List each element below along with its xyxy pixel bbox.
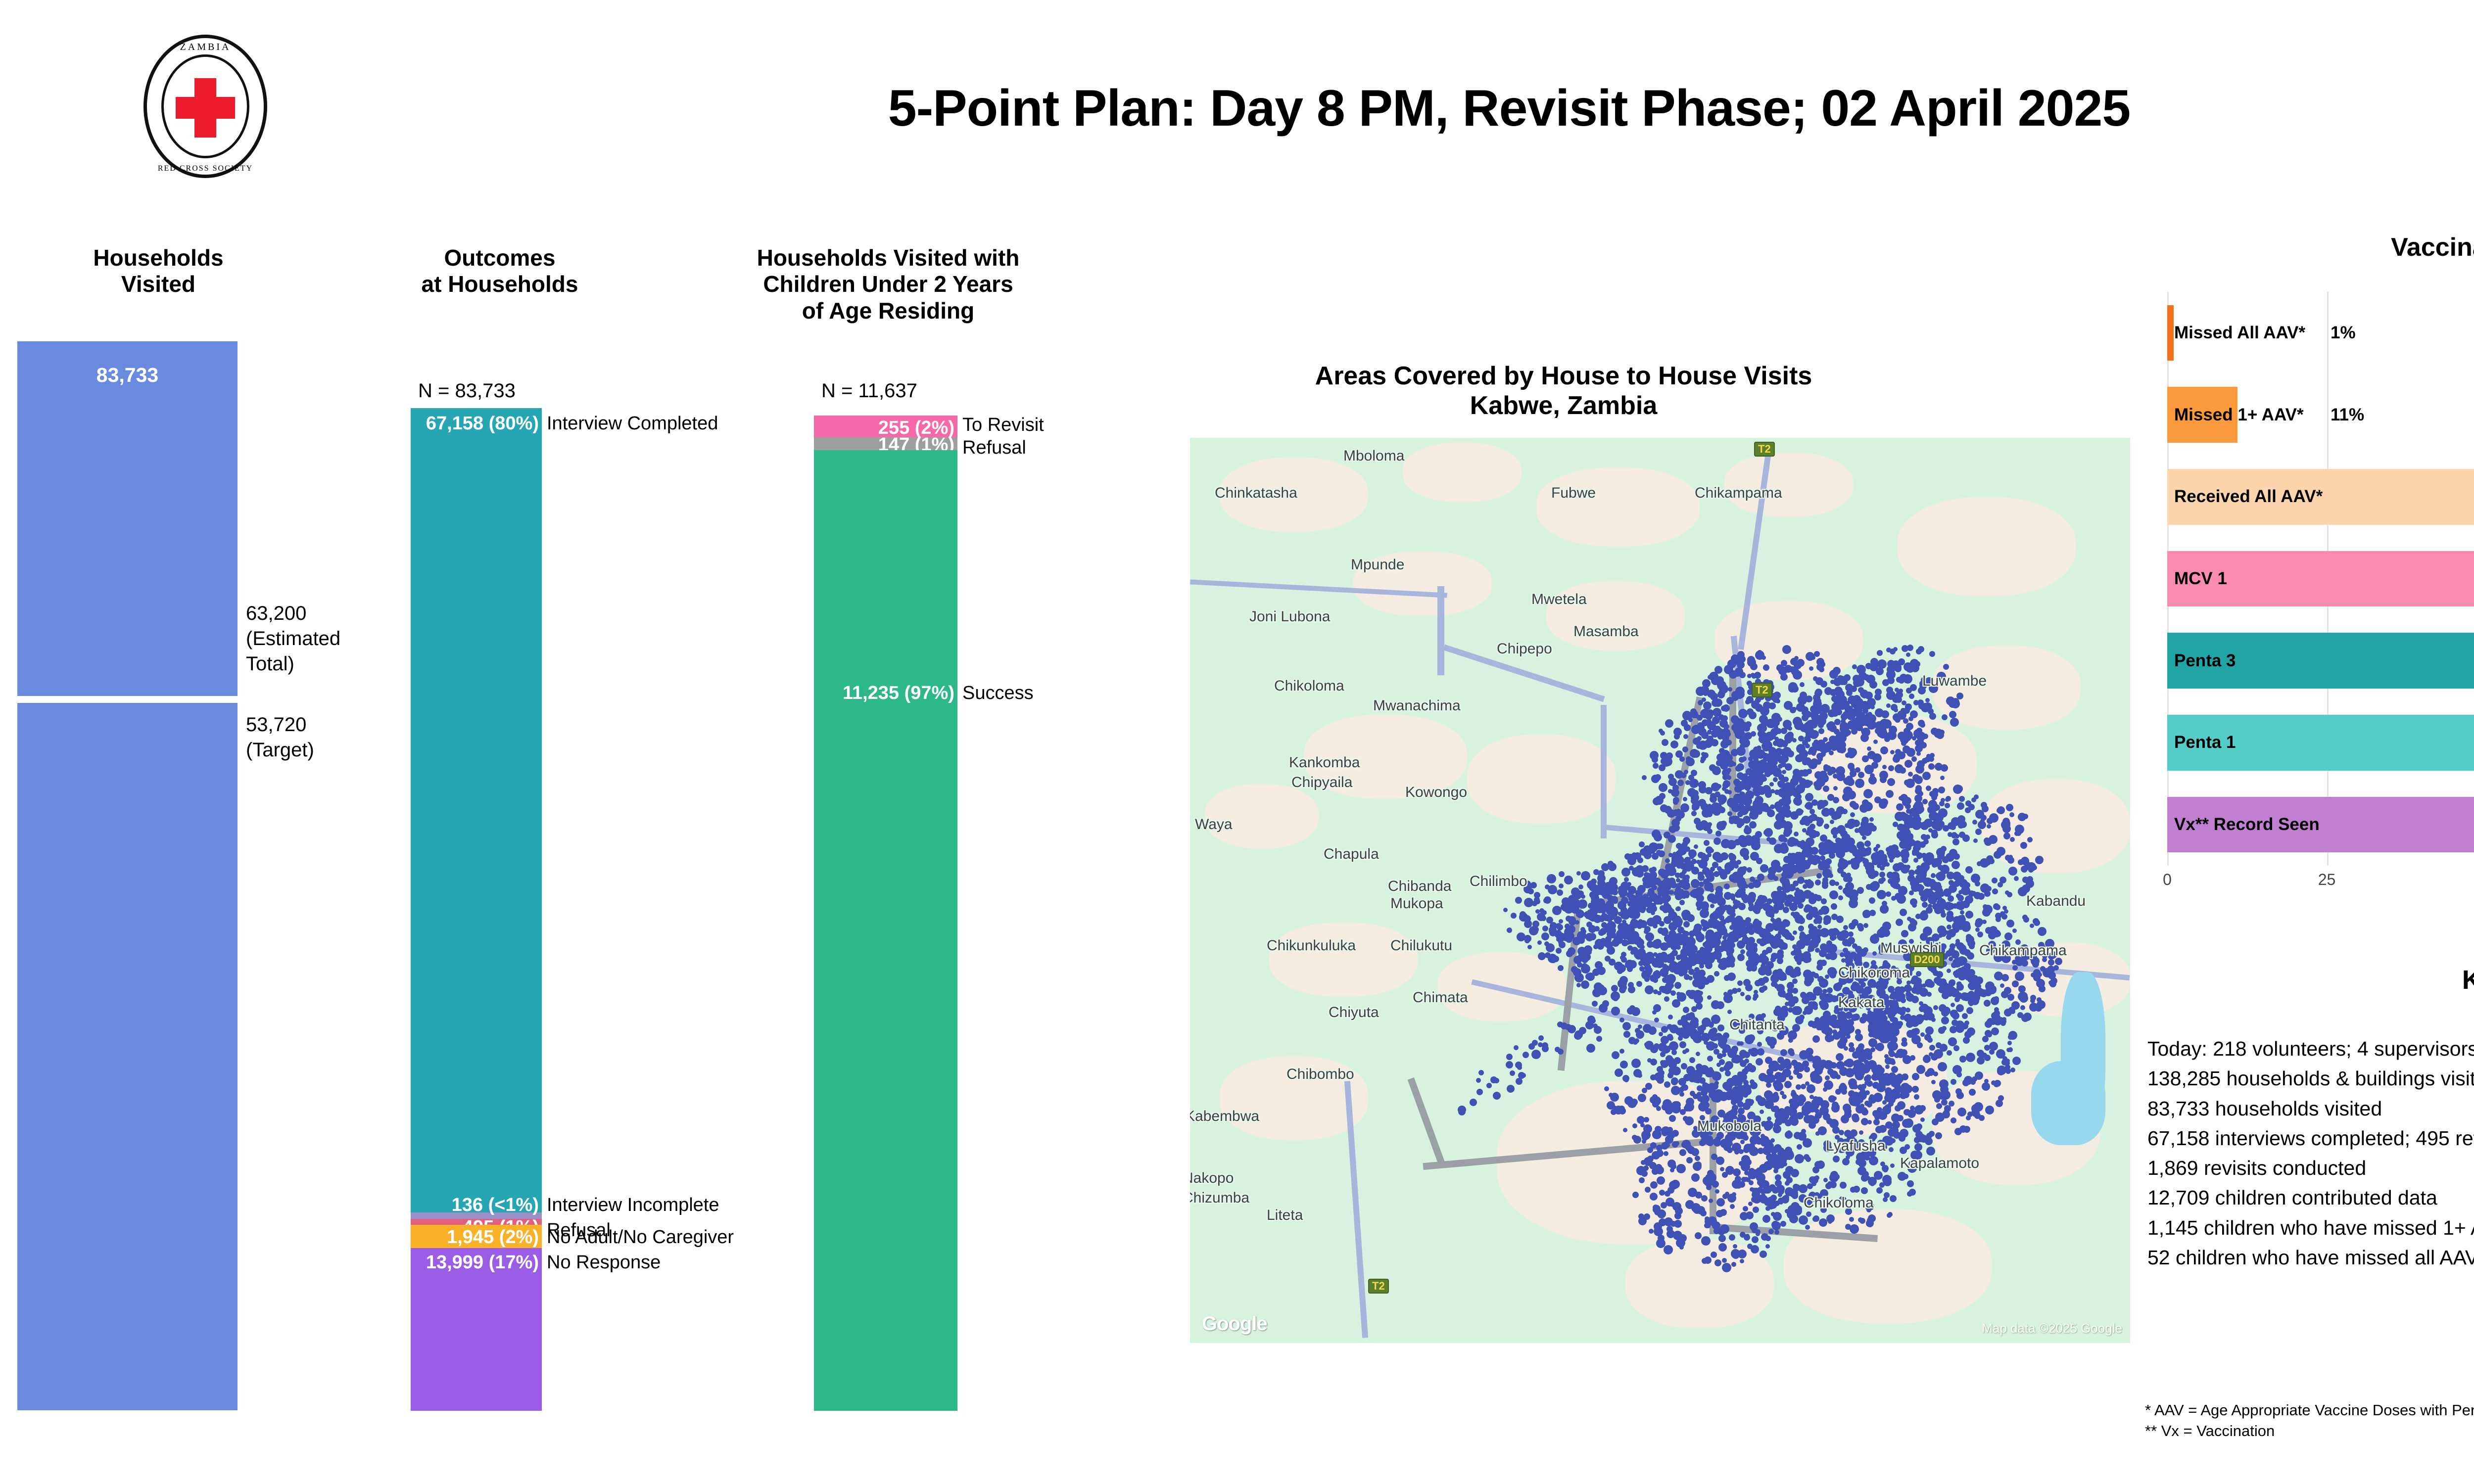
key-number-item: Today: 218 volunteers; 4 supervisors bbox=[2147, 1034, 2474, 1064]
x-axis-tick: 25 bbox=[2318, 871, 2336, 889]
map-place-label: Liteta bbox=[1267, 1207, 1303, 1224]
map-place-label: Nakopo bbox=[1190, 1170, 1234, 1187]
map-place-label: Mboloma bbox=[1343, 448, 1404, 464]
logo-arc-top-text: ZAMBIA bbox=[143, 42, 267, 53]
google-watermark: Google bbox=[1202, 1313, 1267, 1335]
bar-segment: 67,158 (80%)Interview Completed bbox=[411, 408, 542, 1212]
map-place-label: Mukopa bbox=[1390, 895, 1443, 912]
road-shield: T2 bbox=[1754, 442, 1775, 457]
map-place-label: Chilukutu bbox=[1390, 937, 1452, 954]
page-header: ZAMBIA RED CROSS SOCIETY 5-Point Plan: D… bbox=[0, 0, 2474, 213]
bar-segment-label: To Revisit bbox=[962, 415, 1044, 436]
bar-segment-value: 11,235 (97%) bbox=[843, 683, 954, 704]
bar-segment-value: 136 (<1%) bbox=[452, 1195, 539, 1216]
outcomes-title: Outcomesat Households bbox=[356, 245, 643, 298]
map-place-label: Kabembwa bbox=[1190, 1108, 1259, 1125]
coverage-bar-label: Missed 1+ AAV* bbox=[2174, 405, 2304, 425]
children-under2-title: Households Visited withChildren Under 2 … bbox=[725, 245, 1051, 324]
coverage-bar bbox=[2167, 305, 2174, 361]
outcomes-n-label: N = 83,733 bbox=[418, 380, 516, 402]
map-place-label: Kabandu bbox=[2026, 893, 2086, 910]
bar-segment-label: No Adult/No Caregiver bbox=[547, 1227, 734, 1248]
coverage-map[interactable]: MbolomaChinkatashaFubweChikampamaMpundeM… bbox=[1190, 438, 2130, 1343]
map-place-label: Chikoloma bbox=[1804, 1195, 1874, 1211]
map-place-label: Chapula bbox=[1324, 846, 1379, 863]
bar-segment-label: Refusal bbox=[962, 437, 1026, 459]
key-numbers-title: Key Numbers bbox=[2142, 965, 2474, 995]
coverage-bar-value: 1% bbox=[2331, 323, 2356, 343]
coverage-bar-label: Penta 3 bbox=[2174, 651, 2236, 671]
map-place-label: Chizumba bbox=[1190, 1190, 1249, 1206]
map-place-label: Chipepo bbox=[1497, 641, 1552, 657]
map-place-label: Mpunde bbox=[1351, 556, 1404, 573]
map-place-label: Chipyaila bbox=[1291, 774, 1352, 791]
coverage-bar-row: Missed All AAV*1%N =10,753 bbox=[2167, 305, 2474, 361]
bar-segment-label: Interview Incomplete bbox=[547, 1195, 719, 1216]
target-note: 53,720(Target) bbox=[246, 712, 394, 763]
bar-segment: 1,945 (2%)No Adult/No Caregiver bbox=[411, 1225, 542, 1248]
footnote-aav: * AAV = Age Appropriate Vaccine Doses wi… bbox=[2145, 1400, 2474, 1421]
map-place-label: Chikoloma bbox=[1274, 678, 1344, 695]
households-visited-bar-lower bbox=[17, 703, 238, 1410]
coverage-bar-row: Penta 396%N = 9,770 bbox=[2167, 633, 2474, 689]
footnotes: * AAV = Age Appropriate Vaccine Doses wi… bbox=[2145, 1400, 2474, 1441]
chart-x-axis: 0255075100% bbox=[2167, 871, 2474, 900]
coverage-bar-row: Received All AAV*86%N =10,753 bbox=[2167, 469, 2474, 525]
footnote-vx: ** Vx = Vaccination bbox=[2145, 1421, 2474, 1441]
coverage-bar-row: Missed 1+ AAV*11%N =10,753 bbox=[2167, 387, 2474, 443]
map-place-label: Fubwe bbox=[1551, 485, 1596, 502]
map-title: Areas Covered by House to House VisitsKa… bbox=[1133, 361, 1994, 421]
map-place-label: Chitanta bbox=[1729, 1017, 1785, 1033]
coverage-bar-row: Vx** Record Seen95%N =11,741 bbox=[2167, 797, 2474, 853]
bar-segment-label: No Response bbox=[547, 1252, 661, 1273]
map-place-label: Kakata bbox=[1838, 994, 1884, 1011]
bar-segment: 147 (1%)Refusal bbox=[814, 437, 957, 450]
key-number-item: 52 children who have missed all AAV* bbox=[2147, 1243, 2474, 1272]
bar-segment-value: 67,158 (80%) bbox=[426, 413, 539, 434]
map-place-label: Chibombo bbox=[1286, 1066, 1354, 1083]
red-cross-icon-bar bbox=[176, 97, 235, 119]
households-visited-title: HouseholdsVisited bbox=[15, 245, 302, 298]
coverage-bar-label: Received All AAV* bbox=[2174, 487, 2323, 507]
key-number-item: 1,869 revisits conducted bbox=[2147, 1153, 2474, 1183]
key-numbers-list: Today: 218 volunteers; 4 supervisors138,… bbox=[2147, 1034, 2474, 1272]
zambia-red-cross-logo: ZAMBIA RED CROSS SOCIETY bbox=[143, 35, 267, 178]
map-place-label: Luwambe bbox=[1922, 673, 1987, 690]
map-place-label: Kankomba bbox=[1289, 754, 1360, 771]
children-under2-stacked-bar: 255 (2%)To Revisit147 (1%)Refusal11,235 … bbox=[814, 416, 957, 1411]
outcomes-stacked-bar: 67,158 (80%)Interview Completed136 (<1%)… bbox=[411, 408, 542, 1411]
road-shield: T2 bbox=[1752, 683, 1772, 697]
households-visited-value: 83,733 bbox=[17, 364, 238, 387]
map-place-label: Waya bbox=[1195, 816, 1233, 833]
map-place-label: Chikampama bbox=[1979, 942, 2067, 959]
map-place-label: Chibanda bbox=[1388, 878, 1451, 895]
coverage-bar-value: 11% bbox=[2331, 405, 2364, 425]
coverage-bar-label: Missed All AAV* bbox=[2174, 323, 2305, 343]
households-visited-bar-upper bbox=[17, 341, 238, 696]
bar-segment-label: Success bbox=[962, 683, 1034, 704]
page-title: 5-Point Plan: Day 8 PM, Revisit Phase; 0… bbox=[544, 79, 2474, 138]
map-place-label: Chikoroma bbox=[1838, 965, 1910, 981]
map-place-label: Chilimbo bbox=[1470, 873, 1527, 890]
map-place-label: Chikampama bbox=[1695, 485, 1782, 502]
coverage-bar-label: MCV 1 bbox=[2174, 569, 2227, 589]
map-place-label: Kapalamoto bbox=[1900, 1155, 1979, 1172]
map-place-label: Mwanachima bbox=[1373, 697, 1461, 714]
map-place-label: Lyafusha bbox=[1826, 1138, 1886, 1155]
key-number-item: 67,158 interviews completed; 495 refusal… bbox=[2147, 1123, 2474, 1153]
estimated-total-note: 63,200(EstimatedTotal) bbox=[246, 601, 394, 677]
x-axis-tick: 0 bbox=[2163, 871, 2172, 889]
map-place-label: Kowongo bbox=[1405, 784, 1467, 801]
map-place-label: Mwetela bbox=[1531, 591, 1587, 608]
map-attribution: Map data ©2025 Google bbox=[1982, 1321, 2122, 1336]
bar-segment-value: 13,999 (17%) bbox=[426, 1252, 539, 1273]
coverage-bar-label: Vx** Record Seen bbox=[2174, 815, 2320, 835]
coverage-bar-label: Penta 1 bbox=[2174, 733, 2236, 752]
map-place-label: Chimata bbox=[1413, 989, 1468, 1006]
vaccination-coverage-title: Vaccination Coverage (%) bbox=[2142, 232, 2474, 262]
map-place-label: Chiyuta bbox=[1329, 1004, 1379, 1021]
vaccination-coverage-chart: Missed All AAV*1%N =10,753Missed 1+ AAV*… bbox=[2167, 292, 2474, 866]
map-place-label: Masamba bbox=[1573, 623, 1639, 640]
key-number-item: 12,709 children contributed data bbox=[2147, 1183, 2474, 1212]
map-place-label: Joni Lubona bbox=[1249, 608, 1330, 625]
children-under2-n-label: N = 11,637 bbox=[821, 380, 917, 402]
coverage-bar-row: Penta 199%N =10,753 bbox=[2167, 715, 2474, 771]
coverage-bar-row: MCV 189%N = 7,465 bbox=[2167, 551, 2474, 607]
key-number-item: 138,285 households & buildings visited bbox=[2147, 1064, 2474, 1093]
map-place-label: Chikunkuluka bbox=[1267, 937, 1356, 954]
key-number-item: 1,145 children who have missed 1+ AAV* bbox=[2147, 1213, 2474, 1243]
road-shield: T2 bbox=[1368, 1279, 1389, 1294]
logo-arc-bottom-text: RED CROSS SOCIETY bbox=[143, 164, 267, 173]
map-place-label: Mukobola bbox=[1697, 1118, 1761, 1135]
bar-segment-value: 1,945 (2%) bbox=[447, 1227, 539, 1248]
bar-segment-label: Interview Completed bbox=[547, 413, 718, 434]
bar-segment: 495 (1%)Refusal bbox=[411, 1219, 542, 1225]
bar-segment: 11,235 (97%)Success bbox=[814, 450, 957, 1411]
road-shield: D200 bbox=[1910, 952, 1944, 967]
key-number-item: 83,733 households visited bbox=[2147, 1094, 2474, 1123]
map-place-label: Chinkatasha bbox=[1215, 485, 1297, 502]
bar-segment: 13,999 (17%)No Response bbox=[411, 1248, 542, 1411]
